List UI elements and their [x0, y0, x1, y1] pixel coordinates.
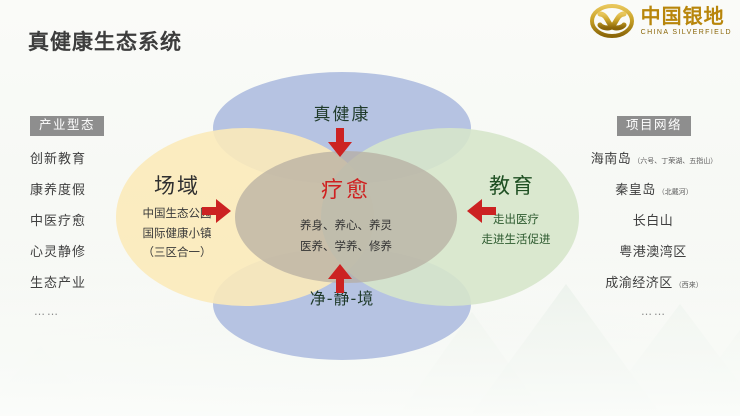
list-item: 秦皇岛（北戴河） [574, 179, 734, 198]
right-column-ellipsis: …… [574, 305, 734, 318]
slide-canvas: 中国银地 CHINA SILVERFIELD 真健康生态系统 产业型态 创新教育… [0, 0, 740, 416]
venn-label-core-sub: 养身、养心、养灵 医养、学养、修养 [256, 215, 436, 258]
list-item-label: 长白山 [633, 214, 674, 229]
venn-left-sub-line-3: （三区合一） [112, 243, 242, 263]
page-title: 真健康生态系统 [28, 26, 182, 56]
list-item-sublabel: （北戴河） [658, 188, 693, 196]
venn-right-sub-line-2: 走进生活促进 [446, 230, 586, 250]
list-item-label: 海南岛 [591, 152, 632, 167]
arrow-right-icon [202, 198, 232, 224]
mountain-shape [596, 304, 740, 416]
arrow-down-icon [327, 128, 353, 158]
list-item-sublabel: （西来） [675, 281, 703, 289]
logo-name-en: CHINA SILVERFIELD [641, 29, 732, 36]
list-item: 海南岛（六号、丁荣湖、五指山） [574, 148, 734, 167]
venn-label-core-title: 疗愈 [271, 176, 421, 206]
list-item: 长白山 [574, 210, 734, 229]
list-item-label: 成渝经济区 [605, 276, 673, 291]
right-column: 项目网络 海南岛（六号、丁荣湖、五指山） 秦皇岛（北戴河） 长白山 粤港澳湾区 … [574, 114, 734, 318]
left-column-badge: 产业型态 [30, 116, 104, 136]
list-item: 粤港澳湾区 [574, 241, 734, 260]
list-item: 成渝经济区（西来） [574, 272, 734, 291]
logo-name-cn: 中国银地 [641, 6, 732, 26]
arrow-up-icon [327, 264, 353, 294]
mountain-shape [676, 330, 740, 416]
arrow-left-icon [466, 198, 496, 224]
list-item-label: 秦皇岛 [615, 183, 656, 198]
mountain-shape [0, 346, 100, 416]
right-column-list: 海南岛（六号、丁荣湖、五指山） 秦皇岛（北戴河） 长白山 粤港澳湾区 成渝经济区… [574, 148, 734, 318]
list-item-sublabel: （六号、丁荣湖、五指山） [633, 157, 717, 165]
venn-label-left-title: 场域 [121, 172, 233, 200]
right-column-badge: 项目网络 [617, 116, 691, 136]
venn-label-top: 真健康 [266, 104, 418, 127]
venn-core-sub-line-2: 医养、学养、修养 [256, 236, 436, 257]
venn-label-right-title: 教育 [456, 172, 568, 200]
brand-logo: 中国银地 CHINA SILVERFIELD [590, 4, 732, 38]
list-item-label: 粤港澳湾区 [619, 245, 687, 260]
venn-diagram: 真健康 净-静-境 场域 中国生态公园 国际健康小镇 （三区合一） 教育 走出医… [116, 72, 596, 362]
knot-infinity-logo-icon [590, 4, 634, 38]
venn-left-sub-line-2: 国际健康小镇 [112, 224, 242, 244]
venn-core-sub-line-1: 养身、养心、养灵 [256, 215, 436, 236]
